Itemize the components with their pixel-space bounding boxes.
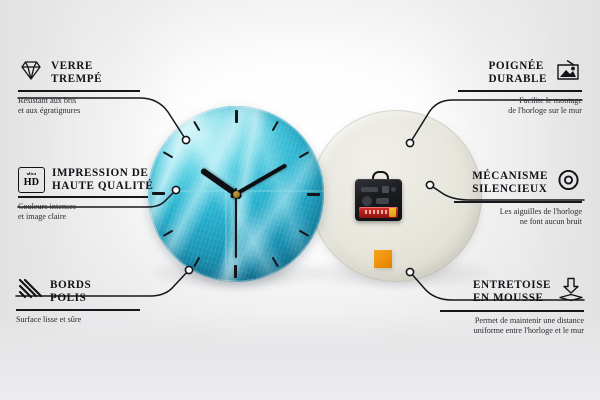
battery-positive-terminal bbox=[389, 208, 396, 217]
mechanism-detail bbox=[391, 187, 396, 192]
callout-verre-trempe[interactable]: VERRE TREMPÉ Résistant aux bris et aux é… bbox=[18, 58, 140, 116]
ultra-hd-icon-top-label: ultra bbox=[27, 172, 37, 176]
ultra-hd-icon: ultra HD bbox=[18, 167, 45, 193]
foam-spacer-arrow-icon bbox=[558, 277, 584, 307]
callout-divider bbox=[454, 201, 582, 203]
callout-title: VERRE TREMPÉ bbox=[51, 60, 102, 85]
foam-spacer bbox=[374, 250, 392, 268]
picture-hanger-icon bbox=[554, 58, 582, 87]
callout-title-row: ultra HD IMPRESSION DE HAUTE QUALITÉ bbox=[18, 167, 148, 193]
foam-spacer-side bbox=[392, 253, 397, 271]
callout-title-row: BORDS POLIS bbox=[16, 277, 140, 306]
mechanism-detail bbox=[361, 187, 378, 192]
battery-label bbox=[365, 210, 387, 214]
mechanism-detail bbox=[362, 196, 372, 206]
gear-icon bbox=[555, 167, 582, 198]
clock-front-face bbox=[148, 106, 324, 282]
callout-subtitle: Facilite le montage de l'horloge sur le … bbox=[458, 96, 582, 116]
ultra-hd-icon-main-label: HD bbox=[24, 178, 39, 188]
callout-impression-haute-qualite[interactable]: ultra HD IMPRESSION DE HAUTE QUALITÉ Cou… bbox=[18, 167, 148, 222]
callout-title: ENTRETOISE EN MOUSSE bbox=[473, 279, 551, 304]
quartz-mechanism bbox=[355, 176, 402, 221]
callout-title: BORDS POLIS bbox=[50, 279, 91, 304]
callout-divider bbox=[18, 196, 148, 198]
callout-divider bbox=[440, 310, 584, 312]
callout-title: POIGNÉE DURABLE bbox=[488, 60, 547, 85]
hands-center-cap bbox=[233, 191, 240, 198]
callout-title: IMPRESSION DE HAUTE QUALITÉ bbox=[52, 167, 153, 192]
callout-divider bbox=[458, 90, 582, 92]
infographic-canvas: VERRE TREMPÉ Résistant aux bris et aux é… bbox=[0, 0, 600, 400]
callout-subtitle: Les aiguilles de l'horloge ne font aucun… bbox=[454, 207, 582, 227]
callout-title-row: POIGNÉE DURABLE bbox=[458, 58, 582, 87]
callout-title-row: VERRE TREMPÉ bbox=[18, 58, 140, 87]
diamond-icon bbox=[18, 58, 44, 87]
callout-poignee-durable[interactable]: POIGNÉE DURABLE Facilite le montage de l… bbox=[458, 58, 582, 116]
callout-title: MÉCANISME SILENCIEUX bbox=[472, 170, 548, 195]
callout-title-row: MÉCANISME SILENCIEUX bbox=[454, 167, 582, 198]
callout-subtitle: Permet de maintenir une distance uniform… bbox=[440, 316, 584, 336]
callout-subtitle: Résistant aux bris et aux égratignures bbox=[18, 96, 140, 116]
mechanism-detail bbox=[382, 186, 389, 193]
callout-divider bbox=[16, 309, 140, 311]
callout-title-row: ENTRETOISE EN MOUSSE bbox=[440, 277, 584, 307]
mechanism-detail bbox=[376, 198, 389, 204]
callout-entretoise-en-mousse[interactable]: ENTRETOISE EN MOUSSE Permet de maintenir… bbox=[440, 277, 584, 336]
callout-mecanisme-silencieux[interactable]: MÉCANISME SILENCIEUX Les aiguilles de l'… bbox=[454, 167, 582, 227]
aa-battery bbox=[359, 207, 398, 218]
diagonal-lines-icon bbox=[16, 277, 43, 306]
mechanism-body bbox=[355, 179, 402, 221]
callout-bords-polis[interactable]: BORDS POLIS Surface lisse et sûre bbox=[16, 277, 140, 325]
callout-divider bbox=[18, 90, 140, 92]
callout-subtitle: Surface lisse et sûre bbox=[16, 315, 140, 325]
callout-subtitle: Couleurs intenses et image claire bbox=[18, 202, 148, 222]
